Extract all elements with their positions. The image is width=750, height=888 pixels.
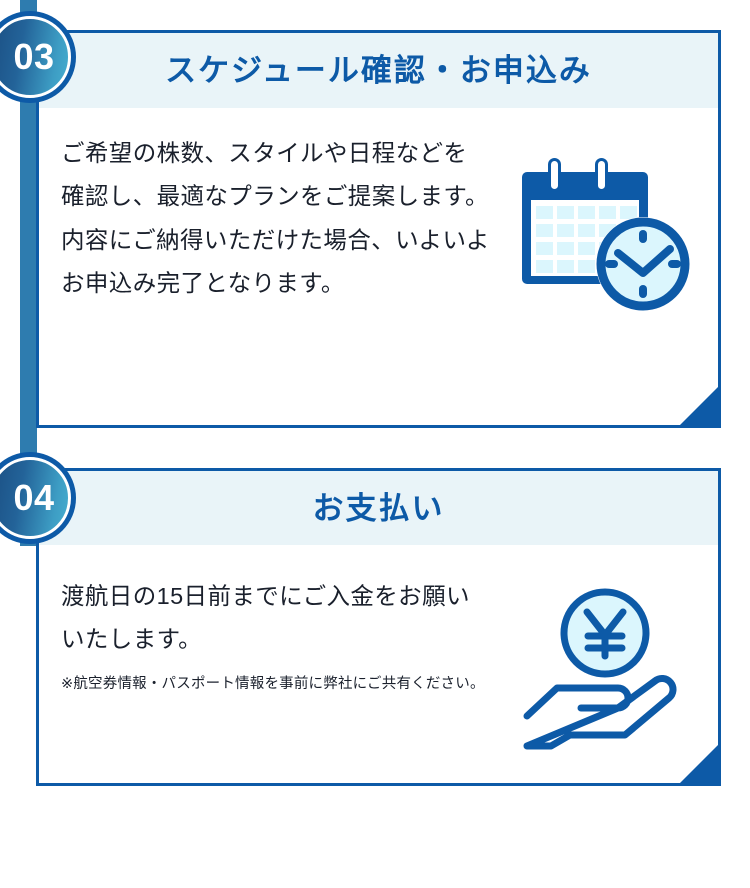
step-card-04-description: 渡航日の15日前までにご入金をお願いいたします。: [61, 575, 491, 662]
step-badge-04-inner: 04: [0, 457, 71, 539]
calendar-clock-icon: [510, 154, 700, 324]
yen-coin-hand-icon: [515, 583, 695, 763]
step-card-04-icon-column: [491, 575, 718, 763]
step-card-04: お支払い 渡航日の15日前までにご入金をお願いいたします。 ※航空券情報・パスポ…: [36, 468, 721, 786]
step-card-03-title: スケジュール確認・お申込み: [165, 55, 592, 86]
step-card-03-description: ご希望の株数、スタイルや日程などを確認し、最適なプランをご提案します。内容にご納…: [61, 132, 491, 306]
step-card-03-icon-column: [491, 132, 718, 324]
step-card-03-body: ご希望の株数、スタイルや日程などを確認し、最適なプランをご提案します。内容にご納…: [39, 108, 718, 324]
step-card-04-note: ※航空券情報・パスポート情報を事前に弊社にご共有ください。: [61, 672, 491, 697]
step-badge-04-number: 04: [5, 480, 54, 516]
step-card-04-title: お支払い: [313, 493, 445, 524]
step-card-03-text-column: ご希望の株数、スタイルや日程などを確認し、最適なプランをご提案します。内容にご納…: [61, 132, 491, 324]
steps-section: スケジュール確認・お申込み ご希望の株数、スタイルや日程などを確認し、最適なプラ…: [0, 0, 750, 888]
step-badge-03-inner: 03: [0, 16, 71, 98]
step-card-04-body: 渡航日の15日前までにご入金をお願いいたします。 ※航空券情報・パスポート情報を…: [39, 545, 718, 763]
step-badge-03-number: 03: [5, 39, 54, 75]
step-card-04-corner-accent: [680, 745, 718, 783]
step-card-03-header: スケジュール確認・お申込み: [39, 33, 718, 108]
step-card-04-text-column: 渡航日の15日前までにご入金をお願いいたします。 ※航空券情報・パスポート情報を…: [61, 575, 491, 763]
step-card-04-header: お支払い: [39, 471, 718, 545]
step-card-03-corner-accent: [680, 387, 718, 425]
step-card-03: スケジュール確認・お申込み ご希望の株数、スタイルや日程などを確認し、最適なプラ…: [36, 30, 721, 428]
